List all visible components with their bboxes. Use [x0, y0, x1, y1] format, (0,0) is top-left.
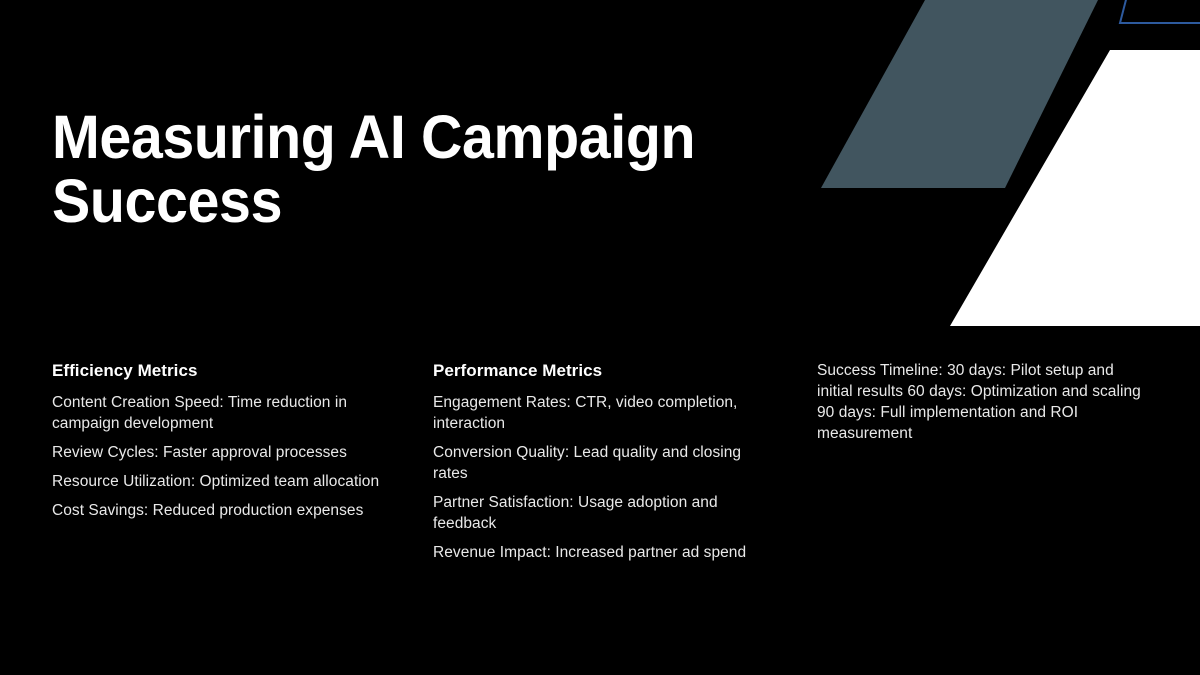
column-item: Partner Satisfaction: Usage adoption and…: [433, 492, 773, 534]
page-title: Measuring AI Campaign Success: [52, 105, 710, 233]
column-success-timeline: Success Timeline: 30 days: Pilot setup a…: [817, 360, 1142, 444]
column-item: Engagement Rates: CTR, video completion,…: [433, 392, 773, 434]
slate-parallelogram-icon: [821, 0, 1098, 188]
white-parallelogram-icon: [950, 50, 1200, 326]
column-item: Content Creation Speed: Time reduction i…: [52, 392, 392, 434]
column-item: Resource Utilization: Optimized team all…: [52, 471, 392, 492]
content-columns: Efficiency Metrics Content Creation Spee…: [0, 360, 1200, 620]
column-item: Revenue Impact: Increased partner ad spe…: [433, 542, 773, 563]
blue-outline-parallelogram-icon: [1120, 0, 1200, 23]
column-item: Conversion Quality: Lead quality and clo…: [433, 442, 773, 484]
column-item: Success Timeline: 30 days: Pilot setup a…: [817, 360, 1142, 444]
column-performance-metrics: Performance Metrics Engagement Rates: CT…: [433, 360, 773, 563]
column-item: Review Cycles: Faster approval processes: [52, 442, 392, 463]
decorative-geometry: [790, 0, 1200, 340]
slide-canvas: Measuring AI Campaign Success Efficiency…: [0, 0, 1200, 675]
column-heading: Efficiency Metrics: [52, 360, 392, 382]
column-item: Cost Savings: Reduced production expense…: [52, 500, 392, 521]
column-efficiency-metrics: Efficiency Metrics Content Creation Spee…: [52, 360, 392, 521]
column-heading: Performance Metrics: [433, 360, 773, 382]
